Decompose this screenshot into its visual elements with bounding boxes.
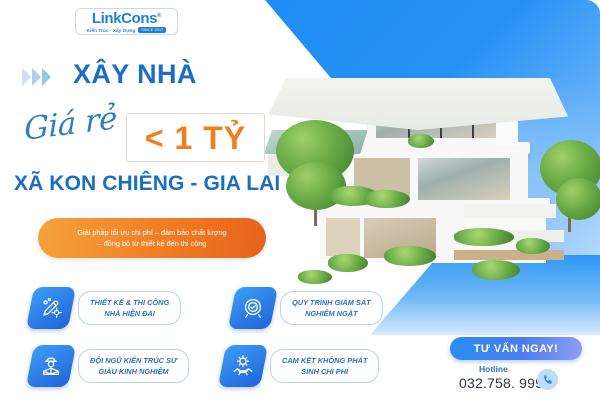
feature-label-architects: ĐỘI NGŨ KIẾN TRÚC SƯ GIÀU KINH NGHIỆM [78, 349, 189, 383]
brand-logo[interactable]: LinkCons® Kiến Trúc - Xây Dựng SINCE 201… [75, 8, 178, 35]
feature-line-1: CAM KẾT KHÔNG PHÁT [282, 355, 367, 366]
villa-wood-deck [454, 250, 564, 260]
villa-mid-glazing [418, 158, 510, 200]
feature-line-1: QUY TRÌNH GIÁM SÁT [292, 297, 371, 308]
phone-handset-icon[interactable] [537, 369, 558, 390]
consult-now-button[interactable]: TƯ VẤN NGAY! [450, 337, 582, 360]
feature-label-supervision: QUY TRÌNH GIÁM SÁT NGHIÊM NGẶT [280, 291, 383, 325]
promo-banner: LinkCons® Kiến Trúc - Xây Dựng SINCE 201… [0, 0, 600, 400]
chevron-right-icon [22, 68, 31, 86]
brand-logo-tagline-row: Kiến Trúc - Xây Dựng SINCE 2017 [87, 27, 167, 33]
tree-medium-right [556, 178, 600, 220]
consult-now-label: TƯ VẤN NGAY! [474, 343, 558, 355]
garden-shrub [328, 254, 368, 272]
script-subtitle: Giá rẻ [24, 100, 117, 148]
location-subheadline: XÃ KON CHIÊNG - GIA LAI [14, 172, 280, 196]
description-line-1: Giải pháp tối ưu chi phí – đảm bảo chất … [77, 227, 226, 238]
feature-label-no-extra-cost: CAM KẾT KHÔNG PHÁT SINH CHI PHÍ [270, 349, 379, 383]
headline: XÂY NHÀ [73, 61, 197, 88]
feature-item-supervision[interactable]: QUY TRÌNH GIÁM SÁT NGHIÊM NGẶT [232, 287, 383, 329]
villa-right-wing-slab [464, 204, 556, 218]
brand-logo-tagline: Kiến Trúc - Xây Dựng [87, 28, 136, 33]
registered-mark: ® [157, 13, 161, 19]
hotline-label: Hotline [479, 364, 508, 374]
garden-shrub [516, 238, 550, 254]
garden-shrub [384, 246, 436, 266]
description-line-2: – đồng bộ từ thiết kế đến thi công [98, 238, 207, 249]
brand-logo-since-chip: SINCE 2017 [138, 27, 166, 33]
planter-shrub [364, 190, 410, 208]
chevron-right-icon [42, 68, 51, 86]
price-callout-box: < 1 TỶ [126, 113, 265, 162]
feature-line-1: THIẾT KẾ & THI CÔNG [90, 297, 169, 308]
design-pencil-gear-icon [26, 287, 76, 329]
architect-engineer-icon [26, 345, 76, 387]
feature-item-design[interactable]: THIẾT KẾ & THI CÔNG NHÀ HIỆN ĐẠI [30, 287, 181, 329]
garden-shrub [472, 260, 520, 280]
description-pill: Giải pháp tối ưu chi phí – đảm bảo chất … [38, 218, 266, 258]
modern-villa-illustration [268, 78, 600, 308]
feature-item-architects[interactable]: ĐỘI NGŨ KIẾN TRÚC SƯ GIÀU KINH NGHIỆM [30, 345, 189, 387]
feature-line-2: SINH CHI PHÍ [301, 366, 348, 377]
feature-label-design: THIẾT KẾ & THI CÔNG NHÀ HIỆN ĐẠI [78, 291, 181, 325]
balcony-shrub [408, 134, 434, 148]
villa-lower-room [326, 218, 360, 256]
price-callout-text: < 1 TỶ [145, 122, 246, 154]
feature-line-2: GIÀU KINH NGHIỆM [98, 366, 168, 377]
supervision-shield-check-icon [228, 287, 278, 329]
chevron-arrows-decoration [22, 68, 51, 86]
brand-logo-name: LinkCons® [92, 11, 161, 26]
chevron-right-icon [32, 68, 41, 86]
feature-line-2: NHÀ HIỆN ĐẠI [104, 308, 155, 319]
garden-shrub [298, 270, 332, 284]
feature-line-2: NGHIÊM NGẶT [305, 308, 358, 319]
handshake-gear-icon [218, 345, 268, 387]
feature-item-no-extra-cost[interactable]: CAM KẾT KHÔNG PHÁT SINH CHI PHÍ [222, 345, 379, 387]
feature-line-1: ĐỘI NGŨ KIẾN TRÚC SƯ [90, 355, 177, 366]
brand-logo-text: LinkCons [92, 10, 157, 27]
terrace-hedge [454, 228, 514, 246]
